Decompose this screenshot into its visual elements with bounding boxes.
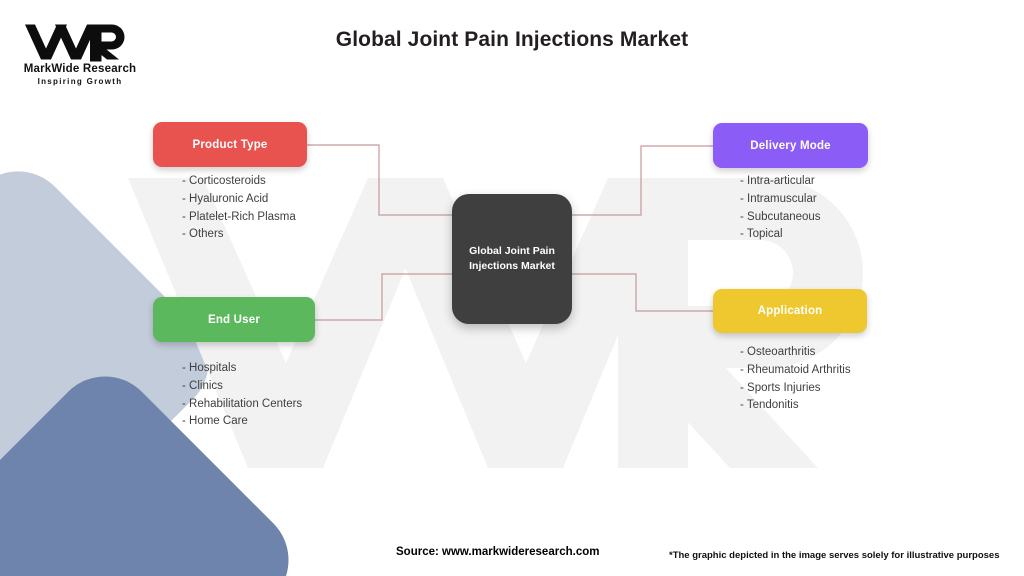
list-item: - Rheumatoid Arthritis (740, 362, 851, 380)
branch-items-delivery-mode: - Intra-articular - Intramuscular - Subc… (740, 173, 821, 244)
footer-disclaimer: *The graphic depicted in the image serve… (669, 550, 1000, 561)
infographic-canvas: MarkWide Research Inspiring Growth Globa… (0, 0, 1024, 576)
center-node[interactable]: Global Joint Pain Injections Market (452, 194, 572, 324)
logo-tagline: Inspiring Growth (18, 77, 142, 86)
list-item: - Home Care (182, 413, 302, 431)
list-item: - Sports Injuries (740, 380, 851, 398)
center-node-label-line2: Injections Market (469, 260, 555, 272)
footer-source[interactable]: Source: www.markwideresearch.com (396, 546, 599, 558)
list-item: - Others (182, 226, 296, 244)
branch-node-application[interactable]: Application (713, 289, 867, 333)
list-item: - Intra-articular (740, 173, 821, 191)
branch-node-product-type[interactable]: Product Type (153, 122, 307, 167)
branch-items-end-user: - Hospitals - Clinics - Rehabilitation C… (182, 360, 302, 431)
list-item: - Hyaluronic Acid (182, 191, 296, 209)
branch-label-application: Application (758, 305, 823, 317)
list-item: - Corticosteroids (182, 173, 296, 191)
page-title: Global Joint Pain Injections Market (0, 28, 1024, 52)
branch-items-application: - Osteoarthritis - Rheumatoid Arthritis … (740, 344, 851, 415)
center-node-label-line1: Global Joint Pain (469, 245, 555, 257)
connector-product-type (307, 145, 452, 215)
list-item: - Clinics (182, 378, 302, 396)
list-item: - Subcutaneous (740, 209, 821, 227)
list-item: - Intramuscular (740, 191, 821, 209)
branch-node-delivery-mode[interactable]: Delivery Mode (713, 123, 868, 168)
connector-end-user (315, 274, 452, 320)
connector-delivery-mode (572, 146, 713, 215)
list-item: - Platelet-Rich Plasma (182, 209, 296, 227)
list-item: - Tendonitis (740, 397, 851, 415)
list-item: - Topical (740, 226, 821, 244)
connector-application (572, 274, 713, 311)
branch-label-delivery-mode: Delivery Mode (750, 140, 831, 152)
center-node-label: Global Joint Pain Injections Market (469, 244, 555, 274)
branch-items-product-type: - Corticosteroids - Hyaluronic Acid - Pl… (182, 173, 296, 244)
branch-node-end-user[interactable]: End User (153, 297, 315, 342)
list-item: - Hospitals (182, 360, 302, 378)
branch-label-end-user: End User (208, 314, 260, 326)
logo-name: MarkWide Research (18, 63, 142, 75)
list-item: - Rehabilitation Centers (182, 396, 302, 414)
branch-label-product-type: Product Type (192, 139, 267, 151)
list-item: - Osteoarthritis (740, 344, 851, 362)
